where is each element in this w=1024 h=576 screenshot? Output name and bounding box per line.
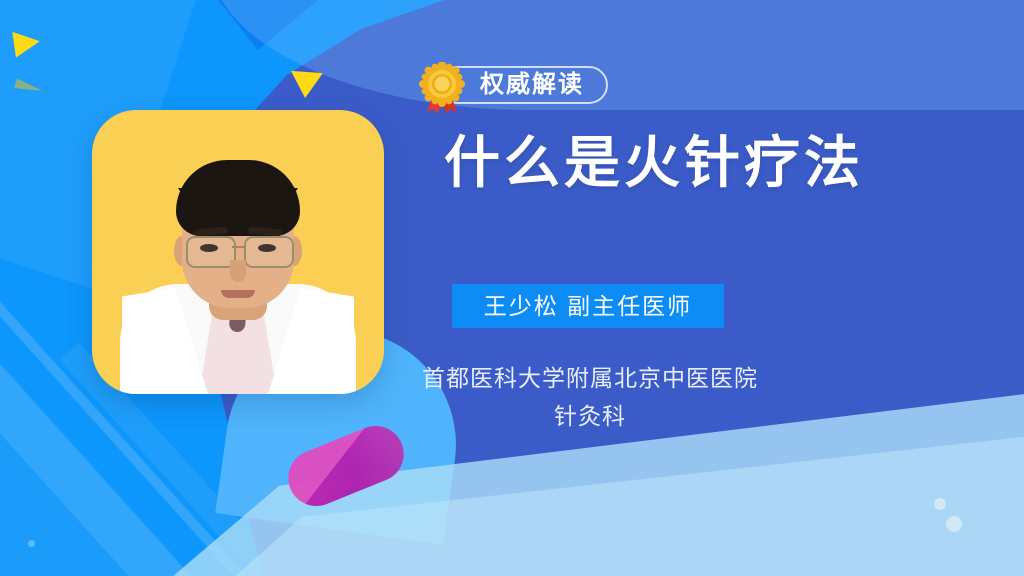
doctor-affiliation: 首都医科大学附属北京中医医院 针灸科 (404, 360, 776, 436)
page-title: 什么是火针疗法 (444, 132, 864, 194)
doctor-name-badge: 王少松 副主任医师 (452, 284, 724, 328)
video-cover-canvas: 权威解读 什么是火针疗法 王少松 副主任医师 首都医科大学附属北京中医医院 针灸… (0, 0, 1024, 576)
department-name: 针灸科 (404, 398, 776, 436)
portrait-nose (230, 260, 246, 282)
bubble-decor-1 (934, 498, 946, 510)
triangle-icon-left (12, 28, 41, 57)
portrait-eyeglass-bridge (232, 246, 244, 248)
authority-badge-label: 权威解读 (480, 73, 584, 97)
authority-badge-pill: 权威解读 (438, 66, 608, 104)
bubble-decor-3 (28, 540, 35, 547)
triangle-icon-top-center (289, 71, 323, 99)
hospital-name: 首都医科大学附属北京中医医院 (404, 360, 776, 398)
doctor-name-label: 王少松 副主任医师 (484, 295, 692, 318)
doctor-avatar-card (92, 110, 384, 394)
portrait-mouth (221, 290, 255, 298)
medal-icon (418, 62, 466, 116)
portrait-eyeglass-right (244, 236, 294, 268)
bubble-decor-2 (946, 516, 962, 532)
authority-badge: 权威解读 (438, 66, 608, 104)
portrait-eyeglass-left (186, 236, 236, 268)
doctor-portrait (122, 132, 354, 394)
